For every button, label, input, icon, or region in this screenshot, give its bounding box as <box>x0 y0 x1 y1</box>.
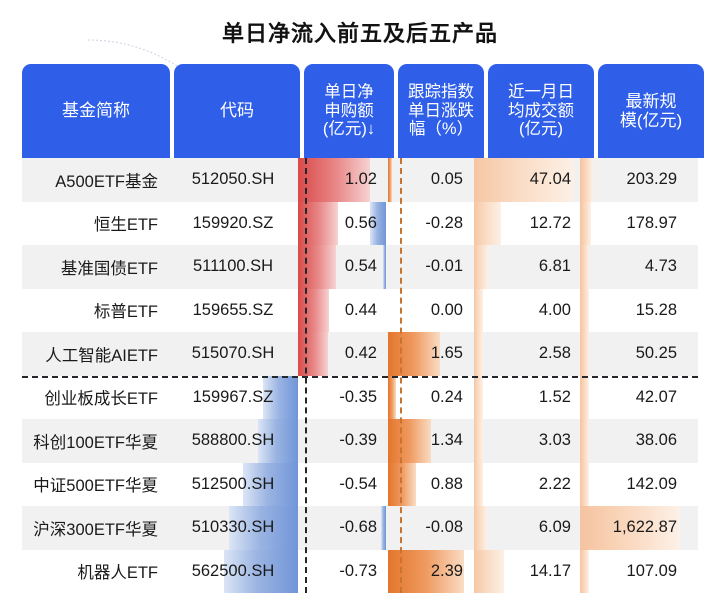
cell-fund-name: 机器人ETF <box>22 550 170 594</box>
fund-name-text: 标普ETF <box>22 298 170 322</box>
volume-value: 14.17 <box>472 562 578 581</box>
cell-netbuy: -0.39 <box>296 419 386 463</box>
change-line-2: 单日涨跌 <box>408 102 474 120</box>
netbuy-line-1: 单日净 <box>324 83 374 101</box>
cell-scale: 142.09 <box>578 463 684 507</box>
volume-value: 47.04 <box>472 170 578 189</box>
infographic-root: 单日净流入前五及后五产品 基金简称 代码 单日净 申购额 (亿元)↓ 跟踪指数 … <box>0 0 720 598</box>
netbuy-value: -0.68 <box>296 518 386 537</box>
column-header-netbuy[interactable]: 单日净 申购额 (亿元)↓ <box>304 64 394 158</box>
cell-volume: 6.81 <box>472 245 578 289</box>
cell-change: 0.88 <box>386 463 472 507</box>
cell-scale: 178.97 <box>578 202 684 246</box>
table-row[interactable]: 标普ETF159655.SZ0.440.004.0015.28 <box>22 289 698 333</box>
cell-fund-code: 510330.SH <box>170 506 296 550</box>
cell-scale: 203.29 <box>578 158 684 202</box>
cell-netbuy: 1.02 <box>296 158 386 202</box>
netbuy-value: 0.56 <box>296 214 386 233</box>
cell-volume: 2.22 <box>472 463 578 507</box>
change-value: 1.65 <box>386 344 472 363</box>
column-header-scale[interactable]: 最新规 模(亿元) <box>598 64 704 158</box>
fund-name-text: 科创100ETF华夏 <box>22 429 170 453</box>
volume-value: 2.58 <box>472 344 578 363</box>
cell-fund-name: 中证500ETF华夏 <box>22 463 170 507</box>
table-row[interactable]: 基准国债ETF511100.SH0.54-0.016.814.73 <box>22 245 698 289</box>
data-table: 基金简称 代码 单日净 申购额 (亿元)↓ 跟踪指数 单日涨跌 幅（%） <box>22 64 698 593</box>
netbuy-value: -0.54 <box>296 475 386 494</box>
volume-line-2: 均成交额 <box>508 102 574 120</box>
cell-netbuy: -0.54 <box>296 463 386 507</box>
volume-line-3: (亿元) <box>519 120 563 138</box>
change-value: 0.88 <box>386 475 472 494</box>
fund-code-text: 510330.SH <box>170 518 296 537</box>
scale-value: 142.09 <box>578 475 684 494</box>
table-row[interactable]: 恒生ETF159920.SZ0.56-0.2812.72178.97 <box>22 202 698 246</box>
column-header-name[interactable]: 基金简称 <box>22 64 170 158</box>
table-row[interactable]: 科创100ETF华夏588800.SH-0.391.343.0338.06 <box>22 419 698 463</box>
fund-code-text: 512500.SH <box>170 475 296 494</box>
scale-value: 50.25 <box>578 344 684 363</box>
cell-netbuy: -0.73 <box>296 550 386 594</box>
cell-volume: 14.17 <box>472 550 578 594</box>
cell-volume: 1.52 <box>472 376 578 420</box>
table-row[interactable]: A500ETF基金512050.SH1.020.0547.04203.29 <box>22 158 698 202</box>
cell-fund-code: 588800.SH <box>170 419 296 463</box>
page-title: 单日净流入前五及后五产品 <box>0 16 720 48</box>
netbuy-line-3: (亿元)↓ <box>323 120 375 138</box>
netbuy-value: -0.35 <box>296 388 386 407</box>
cell-fund-code: 512050.SH <box>170 158 296 202</box>
scale-value: 107.09 <box>578 562 684 581</box>
netbuy-value: 1.02 <box>296 170 386 189</box>
change-value: -0.28 <box>386 214 472 233</box>
volume-value: 6.81 <box>472 257 578 276</box>
cell-netbuy: -0.68 <box>296 506 386 550</box>
change-value: 0.00 <box>386 301 472 320</box>
change-value: -0.01 <box>386 257 472 276</box>
cell-volume: 12.72 <box>472 202 578 246</box>
cell-fund-name: 创业板成长ETF <box>22 376 170 420</box>
cell-change: 2.39 <box>386 550 472 594</box>
fund-name-text: 中证500ETF华夏 <box>22 472 170 496</box>
fund-name-text: 基准国债ETF <box>22 255 170 279</box>
fund-name-text: 创业板成长ETF <box>22 385 170 409</box>
column-header-name-label: 基金简称 <box>62 101 130 120</box>
column-header-change[interactable]: 跟踪指数 单日涨跌 幅（%） <box>398 64 484 158</box>
table-row[interactable]: 机器人ETF562500.SH-0.732.3914.17107.09 <box>22 550 698 594</box>
column-header-code-label: 代码 <box>220 101 254 120</box>
change-value: 0.05 <box>386 170 472 189</box>
cell-fund-name: 标普ETF <box>22 289 170 333</box>
column-header-volume[interactable]: 近一月日 均成交额 (亿元) <box>488 64 594 158</box>
volume-value: 1.52 <box>472 388 578 407</box>
volume-line-1: 近一月日 <box>508 83 574 101</box>
scale-value: 42.07 <box>578 388 684 407</box>
scale-value: 4.73 <box>578 257 684 276</box>
cell-fund-code: 515070.SH <box>170 332 296 376</box>
netbuy-value: 0.42 <box>296 344 386 363</box>
volume-value: 3.03 <box>472 431 578 450</box>
column-header-code[interactable]: 代码 <box>174 64 300 158</box>
change-value: 1.34 <box>386 431 472 450</box>
scale-line-2: 模(亿元) <box>620 111 682 130</box>
cell-volume: 47.04 <box>472 158 578 202</box>
table-row[interactable]: 中证500ETF华夏512500.SH-0.540.882.22142.09 <box>22 463 698 507</box>
cell-fund-name: 科创100ETF华夏 <box>22 419 170 463</box>
scale-value: 203.29 <box>578 170 684 189</box>
change-value: 0.24 <box>386 388 472 407</box>
volume-value: 4.00 <box>472 301 578 320</box>
cell-fund-code: 512500.SH <box>170 463 296 507</box>
scale-value: 178.97 <box>578 214 684 233</box>
change-value: -0.08 <box>386 518 472 537</box>
volume-value: 6.09 <box>472 518 578 537</box>
cell-scale: 42.07 <box>578 376 684 420</box>
fund-code-text: 159920.SZ <box>170 214 296 233</box>
fund-name-text: A500ETF基金 <box>22 168 170 192</box>
fund-code-text: 512050.SH <box>170 170 296 189</box>
cell-fund-code: 511100.SH <box>170 245 296 289</box>
fund-name-text: 人工智能AIETF <box>22 342 170 366</box>
cell-fund-name: 沪深300ETF华夏 <box>22 506 170 550</box>
cell-change: 0.00 <box>386 289 472 333</box>
cell-fund-code: 562500.SH <box>170 550 296 594</box>
cell-change: 1.65 <box>386 332 472 376</box>
fund-name-text: 恒生ETF <box>22 211 170 235</box>
cell-fund-code: 159967.SZ <box>170 376 296 420</box>
netbuy-value: 0.44 <box>296 301 386 320</box>
cell-fund-name: 人工智能AIETF <box>22 332 170 376</box>
change-line-1: 跟踪指数 <box>408 83 474 101</box>
cell-netbuy: 0.44 <box>296 289 386 333</box>
table-row[interactable]: 人工智能AIETF515070.SH0.421.652.5850.25 <box>22 332 698 376</box>
cell-scale: 1,622.87 <box>578 506 684 550</box>
fund-code-text: 511100.SH <box>170 257 296 276</box>
change-line-3: 幅（%） <box>409 120 473 138</box>
volume-value: 12.72 <box>472 214 578 233</box>
table-header-row: 基金简称 代码 单日净 申购额 (亿元)↓ 跟踪指数 单日涨跌 幅（%） <box>22 64 698 158</box>
cell-volume: 4.00 <box>472 289 578 333</box>
fund-code-text: 159655.SZ <box>170 301 296 320</box>
fund-name-text: 沪深300ETF华夏 <box>22 516 170 540</box>
cell-scale: 4.73 <box>578 245 684 289</box>
cell-volume: 3.03 <box>472 419 578 463</box>
scale-value: 1,622.87 <box>578 518 684 537</box>
scale-value: 38.06 <box>578 431 684 450</box>
cell-scale: 15.28 <box>578 289 684 333</box>
volume-value: 2.22 <box>472 475 578 494</box>
column-header-volume-label: 近一月日 均成交额 (亿元) <box>508 83 574 138</box>
netbuy-value: 0.54 <box>296 257 386 276</box>
cell-scale: 38.06 <box>578 419 684 463</box>
cell-change: -0.08 <box>386 506 472 550</box>
scale-line-1: 最新规 <box>625 92 676 111</box>
cell-fund-name: 基准国债ETF <box>22 245 170 289</box>
column-header-netbuy-label: 单日净 申购额 (亿元)↓ <box>323 83 375 138</box>
top-bottom-divider <box>22 376 698 378</box>
cell-volume: 2.58 <box>472 332 578 376</box>
cell-change: -0.28 <box>386 202 472 246</box>
netbuy-value: -0.39 <box>296 431 386 450</box>
column-header-change-label: 跟踪指数 单日涨跌 幅（%） <box>408 83 474 138</box>
cell-fund-name: 恒生ETF <box>22 202 170 246</box>
fund-code-text: 588800.SH <box>170 431 296 450</box>
cell-netbuy: 0.54 <box>296 245 386 289</box>
netbuy-line-2: 申购额 <box>324 102 374 120</box>
fund-code-text: 515070.SH <box>170 344 296 363</box>
table-body: A500ETF基金512050.SH1.020.0547.04203.29恒生E… <box>22 158 698 593</box>
cell-netbuy: -0.35 <box>296 376 386 420</box>
change-value: 2.39 <box>386 562 472 581</box>
cell-change: -0.01 <box>386 245 472 289</box>
cell-volume: 6.09 <box>472 506 578 550</box>
cell-change: 0.24 <box>386 376 472 420</box>
cell-fund-code: 159655.SZ <box>170 289 296 333</box>
fund-code-text: 159967.SZ <box>170 388 296 407</box>
cell-fund-name: A500ETF基金 <box>22 158 170 202</box>
fund-code-text: 562500.SH <box>170 562 296 581</box>
column-header-scale-label: 最新规 模(亿元) <box>620 92 682 130</box>
cell-scale: 50.25 <box>578 332 684 376</box>
table-row[interactable]: 创业板成长ETF159967.SZ-0.350.241.5242.07 <box>22 376 698 420</box>
table-row[interactable]: 沪深300ETF华夏510330.SH-0.68-0.086.091,622.8… <box>22 506 698 550</box>
fund-name-text: 机器人ETF <box>22 559 170 583</box>
scale-value: 15.28 <box>578 301 684 320</box>
cell-scale: 107.09 <box>578 550 684 594</box>
cell-fund-code: 159920.SZ <box>170 202 296 246</box>
cell-change: 1.34 <box>386 419 472 463</box>
cell-netbuy: 0.42 <box>296 332 386 376</box>
cell-change: 0.05 <box>386 158 472 202</box>
netbuy-value: -0.73 <box>296 562 386 581</box>
